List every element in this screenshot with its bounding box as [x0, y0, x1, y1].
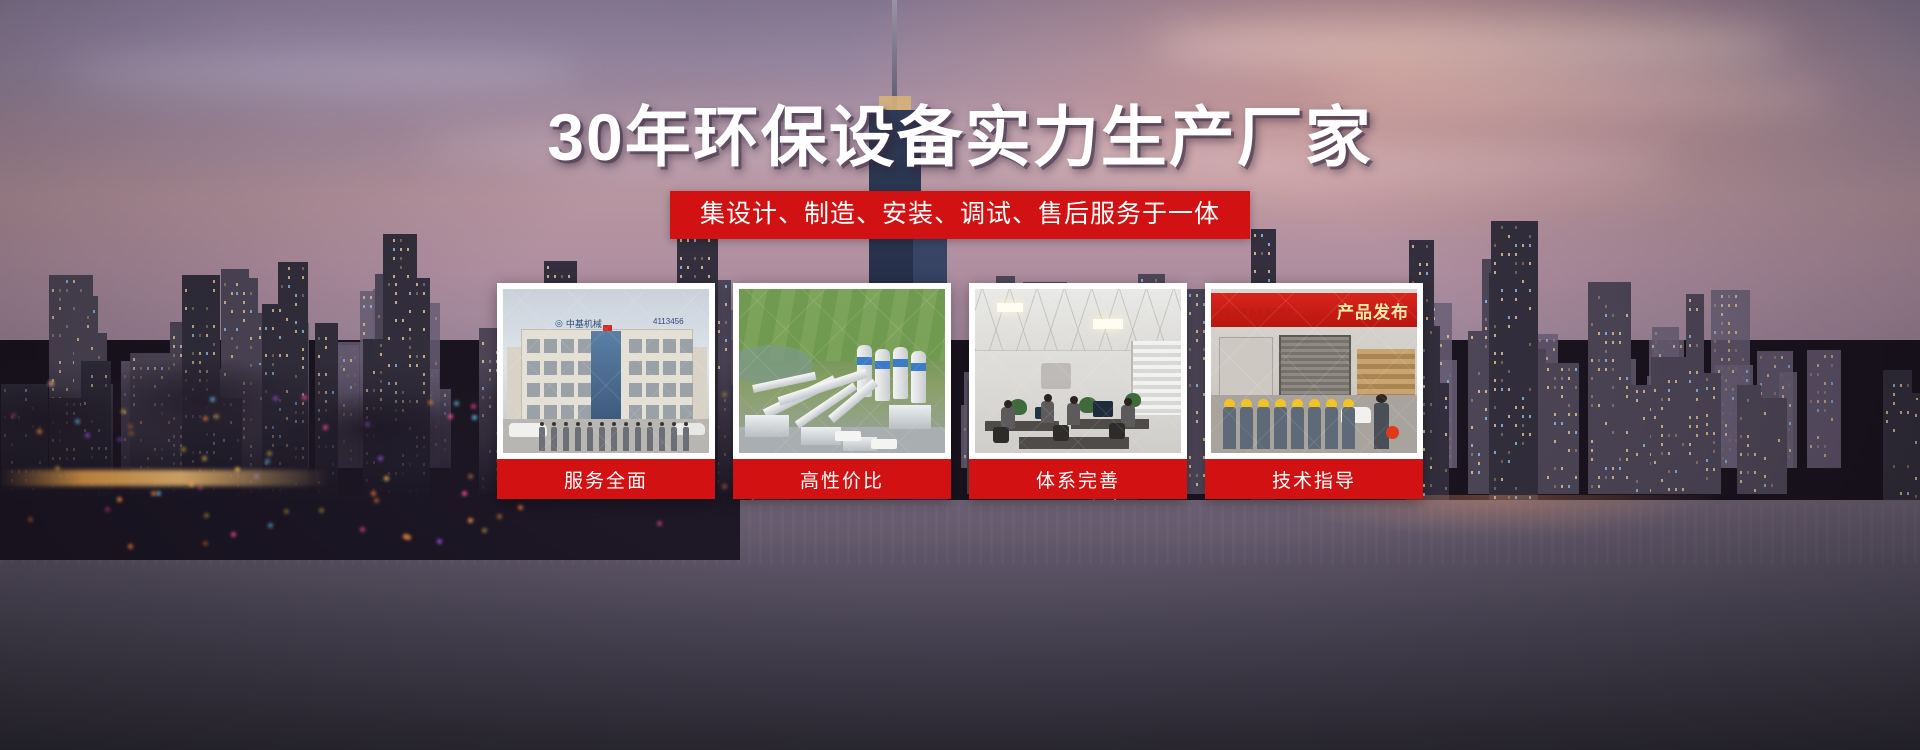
building-phone-text: 4113456	[653, 317, 684, 326]
building-window	[646, 405, 659, 419]
parked-car	[675, 423, 705, 435]
factory-worker	[1342, 407, 1355, 449]
aerial-factory-plant-photo	[739, 289, 945, 453]
office-worker	[1041, 401, 1054, 423]
building-window	[544, 339, 557, 353]
storage-silo	[911, 351, 926, 403]
building-window	[527, 361, 540, 375]
card-caption: 服务全面	[497, 459, 715, 499]
building-window	[680, 361, 693, 375]
building-window	[663, 383, 676, 397]
ceiling-light-panel	[1093, 319, 1123, 329]
factory-workers-photo: 产品发布 专业 高效 热诚 优质服务	[1211, 289, 1417, 453]
building-window	[629, 361, 642, 375]
office-chair	[1053, 425, 1069, 441]
card-caption: 技术指导	[1205, 459, 1423, 499]
building-window	[629, 383, 642, 397]
card-thumbnail: 产品发布 专业 高效 热诚 优质服务	[1211, 289, 1417, 453]
staff-figure	[611, 427, 617, 451]
truck	[835, 431, 861, 441]
storage-silo	[893, 347, 908, 399]
staff-figure	[635, 427, 641, 451]
building-window	[561, 383, 574, 397]
building-window	[527, 383, 540, 397]
building-sign: ◎ 中基机械	[555, 317, 647, 329]
staff-figure	[647, 427, 653, 451]
staff-figure	[539, 427, 545, 451]
office-chair	[993, 427, 1009, 443]
staff-figure	[671, 427, 677, 451]
factory-worker	[1325, 407, 1338, 449]
building-window	[544, 361, 557, 375]
computer-monitor	[1093, 401, 1113, 417]
staff-figure	[563, 427, 569, 451]
plant-building	[889, 405, 931, 429]
office-chair	[1109, 423, 1125, 439]
building-window	[646, 361, 659, 375]
supervisor-figure	[1374, 403, 1389, 449]
building-window	[646, 383, 659, 397]
card-caption: 高性价比	[733, 459, 951, 499]
building-window	[578, 405, 591, 419]
building-window	[646, 339, 659, 353]
factory-wall-panel	[1219, 337, 1273, 397]
building-window	[561, 405, 574, 419]
building-window	[578, 383, 591, 397]
timber-stack	[1357, 349, 1415, 395]
building-window	[544, 383, 557, 397]
office-interior-photo	[975, 289, 1181, 453]
banner-headline: 30年环保设备实力生产厂家	[0, 104, 1920, 170]
building-window	[663, 361, 676, 375]
feature-card[interactable]: 高性价比	[733, 283, 951, 499]
building-window	[663, 339, 676, 353]
building-window	[680, 383, 693, 397]
building-window	[544, 405, 557, 419]
feature-card[interactable]: ◎ 中基机械 4113456 服务全面	[497, 283, 715, 499]
factory-wall-slogan: 专业 高效 热诚 优质服务	[1217, 297, 1313, 327]
card-caption: 体系完善	[969, 459, 1187, 499]
company-building-photo: ◎ 中基机械 4113456	[503, 289, 709, 453]
factory-worker	[1291, 407, 1304, 449]
red-helmet-icon	[1386, 426, 1399, 439]
feature-card[interactable]: 体系完善	[969, 283, 1187, 499]
building-window	[561, 361, 574, 375]
banner-content: 30年环保设备实力生产厂家 集设计、制造、安装、调试、售后服务于一体 ◎	[0, 0, 1920, 750]
building-sign-logo-icon: ◎	[555, 318, 563, 329]
building-window	[629, 405, 642, 419]
feature-card[interactable]: 产品发布 专业 高效 热诚 优质服务 技术指导	[1205, 283, 1423, 499]
plant-building	[745, 415, 789, 437]
banner-subtitle-row: 集设计、制造、安装、调试、售后服务于一体	[0, 191, 1920, 239]
building-window	[578, 339, 591, 353]
office-worker	[1067, 403, 1080, 425]
banner-subtitle: 集设计、制造、安装、调试、售后服务于一体	[670, 191, 1250, 239]
staff-figure	[623, 427, 629, 451]
staff-figure	[551, 427, 557, 451]
storage-silo	[875, 349, 890, 401]
card-thumbnail	[975, 289, 1181, 453]
building-window	[578, 361, 591, 375]
card-thumbnail: ◎ 中基机械 4113456	[503, 289, 709, 453]
roller-shutter-door	[1279, 335, 1351, 399]
feature-card-list: ◎ 中基机械 4113456 服务全面	[0, 283, 1920, 499]
factory-worker	[1240, 407, 1253, 449]
staff-figure	[575, 427, 581, 451]
card-thumbnail	[739, 289, 945, 453]
building-window	[561, 339, 574, 353]
office-worker	[1001, 407, 1015, 429]
building-sign-text: 中基机械	[566, 317, 602, 330]
hero-banner: 30年环保设备实力生产厂家 集设计、制造、安装、调试、售后服务于一体 ◎	[0, 0, 1920, 750]
staff-figure	[659, 427, 665, 451]
factory-worker	[1257, 407, 1270, 449]
truck	[871, 439, 897, 449]
factory-worker	[1223, 407, 1236, 449]
building-window	[629, 339, 642, 353]
staff-figure	[587, 427, 593, 451]
staff-figure	[683, 427, 689, 451]
building-window	[527, 405, 540, 419]
building-window	[680, 405, 693, 419]
building-glass-atrium	[591, 331, 621, 419]
building-window	[663, 405, 676, 419]
building-window	[527, 339, 540, 353]
factory-worker	[1308, 407, 1321, 449]
building-window	[680, 339, 693, 353]
staff-figure	[599, 427, 605, 451]
wall-decal	[1041, 363, 1071, 389]
ceiling-light-panel	[997, 303, 1023, 312]
factory-worker	[1274, 407, 1287, 449]
